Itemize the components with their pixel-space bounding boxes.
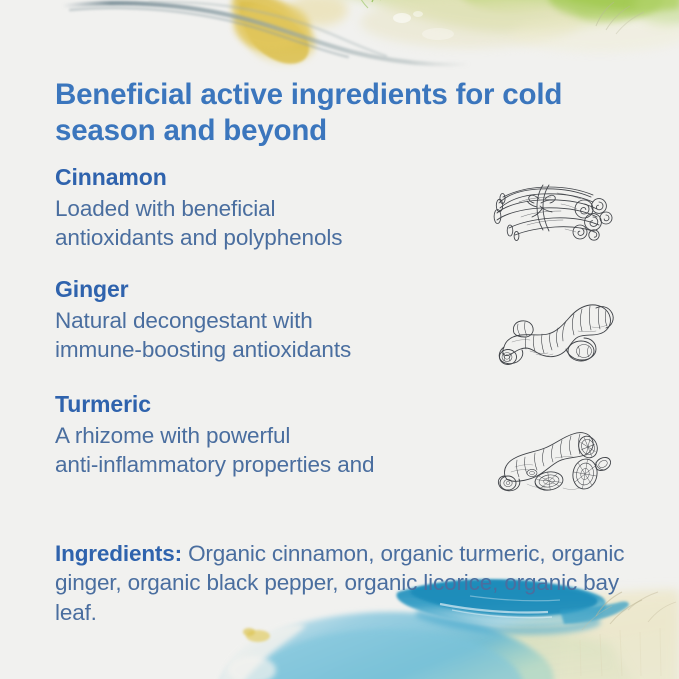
cinnamon-sticks-bundle-illustration	[487, 173, 615, 251]
page-title: Beneficial active ingredients for cold s…	[55, 77, 615, 149]
ingredient-block-turmeric: Turmeric A rhizome with powerful anti-in…	[55, 390, 475, 480]
ingredient-description-line-2: anti-inflammatory properties and	[55, 450, 475, 480]
ingredient-name-cinnamon: Cinnamon	[55, 163, 475, 192]
ingredient-description-ginger: Natural decongestant with immune-boostin…	[55, 306, 475, 365]
ingredient-description-line-1: A rhizome with powerful	[55, 421, 475, 451]
page-title-line-2: season and beyond	[55, 114, 327, 147]
ingredient-description-turmeric: A rhizome with powerful anti-inflammator…	[55, 421, 475, 480]
ingredients-list: Ingredients: Organic cinnamon, organic t…	[55, 539, 630, 629]
ingredient-description-line-1: Loaded with beneficial	[55, 194, 475, 224]
ingredient-name-turmeric: Turmeric	[55, 390, 475, 419]
ingredient-block-cinnamon: Cinnamon Loaded with beneficial antioxid…	[55, 163, 475, 253]
ingredient-description-line-2: antioxidants and polyphenols	[55, 223, 475, 253]
ingredient-description-line-2: immune-boosting antioxidants	[55, 335, 475, 365]
ingredients-list-label: Ingredients:	[55, 541, 182, 566]
ingredient-description-line-1: Natural decongestant with	[55, 306, 475, 336]
page-title-line-1: Beneficial active ingredients for cold	[55, 78, 562, 111]
ingredient-description-cinnamon: Loaded with beneficial antioxidants and …	[55, 194, 475, 253]
turmeric-root-sliced-illustration	[497, 424, 615, 496]
ingredient-block-ginger: Ginger Natural decongestant with immune-…	[55, 275, 475, 365]
ginger-root-illustration	[492, 297, 618, 371]
ingredient-name-ginger: Ginger	[55, 275, 475, 304]
product-info-panel: Beneficial active ingredients for cold s…	[0, 0, 679, 679]
